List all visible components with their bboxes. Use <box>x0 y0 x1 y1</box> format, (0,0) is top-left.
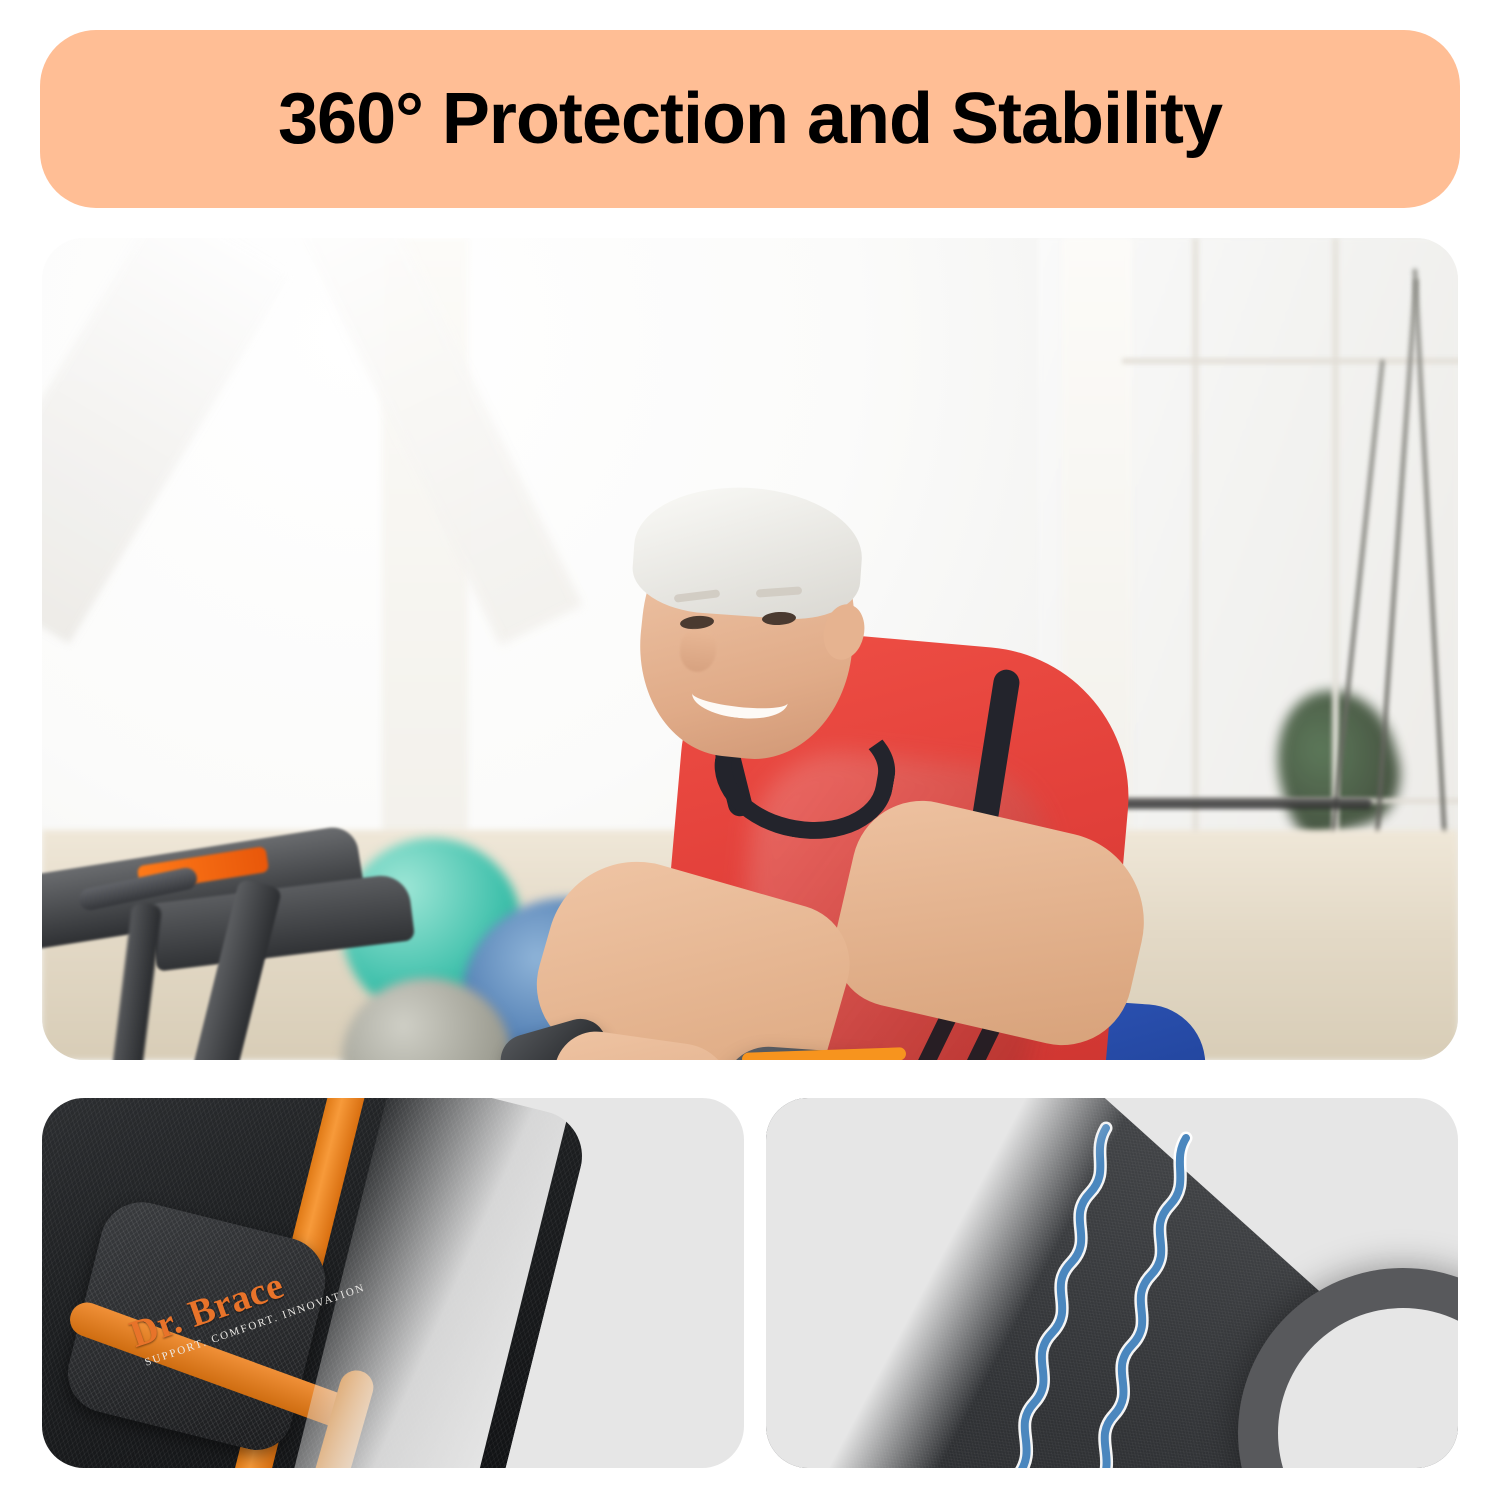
gym-scene <box>42 238 1458 1060</box>
hook-and-loop-product-photo: Dr. Brace SUPPORT. COMFORT. INNOVATION <box>42 1098 744 1468</box>
banner-title: 360° Protection and Stability <box>278 83 1222 155</box>
anti-slip-product-photo <box>766 1098 1458 1468</box>
hero-photo <box>42 238 1458 1060</box>
feature-card-hook-and-loop: Dr. Brace SUPPORT. COMFORT. INNOVATION <box>42 1098 744 1468</box>
feature-card-anti-slip: Anti-Slip Silicone <box>766 1098 1458 1468</box>
header-banner: 360° Protection and Stability <box>40 30 1460 208</box>
product-infographic-page: 360° Protection and Stability <box>0 0 1500 1500</box>
right-photo-fade-to-card <box>766 1098 1186 1468</box>
